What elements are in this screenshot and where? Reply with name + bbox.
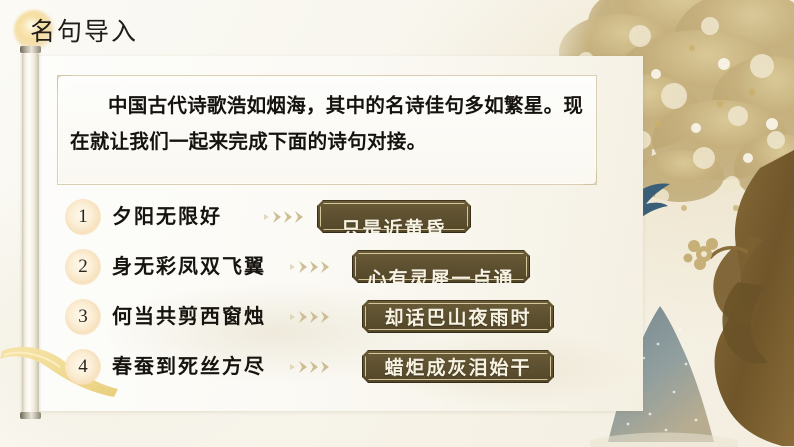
pair-answer-text: 只是近黄昏 xyxy=(341,214,446,233)
pair-prompt: 春蚕到死丝方尽 xyxy=(112,350,266,379)
pair-row: 3 何当共剪西窗烛 却话巴山夜雨时 xyxy=(57,292,612,342)
pair-row: 2 身无彩凤双飞翼 心有灵犀一点通 xyxy=(57,242,612,292)
pair-answer-box[interactable]: 心有灵犀一点通 xyxy=(352,250,530,283)
pair-answer-box[interactable]: 却话巴山夜雨时 xyxy=(362,300,554,333)
pair-index-badge: 2 xyxy=(65,249,101,285)
quote-text: 中国古代诗歌浩如烟海，其中的名诗佳句多如繁星。现在就让我们一起来完成下面的诗句对… xyxy=(70,88,584,160)
pair-answer-box[interactable]: 蜡炬成灰泪始干 xyxy=(362,350,554,383)
pair-answer-text: 蜡炬成灰泪始干 xyxy=(384,353,531,380)
triple-chevron-right-icon xyxy=(288,359,332,375)
pair-prompt: 身无彩凤双飞翼 xyxy=(112,250,266,279)
pair-answer-box[interactable]: 只是近黄昏 xyxy=(317,200,471,233)
scroll-rod-icon xyxy=(22,52,39,415)
pair-answer-text: 心有灵犀一点通 xyxy=(367,264,514,283)
tree-trunk xyxy=(684,150,794,446)
pair-prompt: 夕阳无限好 xyxy=(112,200,222,229)
pair-row: 4 春蚕到死丝方尽 蜡炬成灰泪始干 xyxy=(57,342,612,392)
pair-row: 1 夕阳无限好 只是近黄昏 xyxy=(57,192,612,242)
pair-index-badge: 4 xyxy=(65,349,101,385)
scroll-rod-cap-top-icon xyxy=(20,46,41,53)
pair-prompt: 何当共剪西窗烛 xyxy=(112,300,266,329)
slide-canvas: 名句导入 中国古代诗歌浩如烟海，其中的名诗佳句多如繁星。现在就让我们一起来完成下… xyxy=(0,0,794,447)
pair-list: 1 夕阳无限好 只是近黄昏 2 身无彩凤双飞翼 xyxy=(57,192,612,392)
pair-index-badge: 1 xyxy=(65,199,101,235)
title-text: 名句导入 xyxy=(30,12,138,48)
scroll-rod-cap-bottom-icon xyxy=(20,412,41,419)
quote-panel: 中国古代诗歌浩如烟海，其中的名诗佳句多如繁星。现在就让我们一起来完成下面的诗句对… xyxy=(57,75,597,185)
triple-chevron-right-icon xyxy=(262,209,306,225)
pair-index-badge: 3 xyxy=(65,299,101,335)
triple-chevron-right-icon xyxy=(288,309,332,325)
triple-chevron-right-icon xyxy=(288,259,332,275)
pair-answer-text: 却话巴山夜雨时 xyxy=(384,303,531,330)
